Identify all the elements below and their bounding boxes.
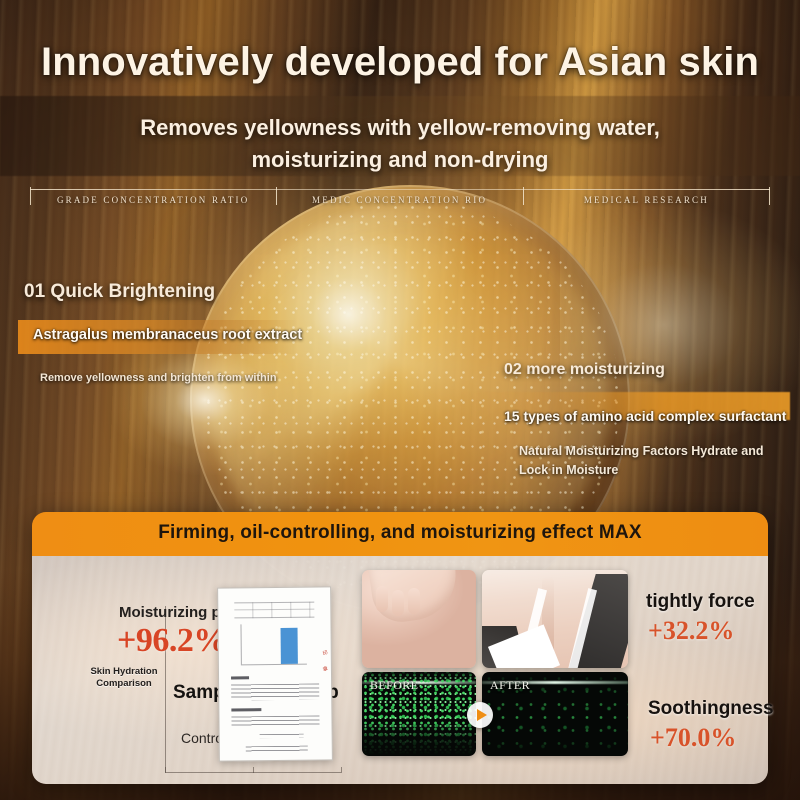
chart-xlabel-100: 100% — [325, 782, 358, 784]
chart-y-axis-label: Skin Hydration Comparison — [87, 666, 161, 690]
report-chart-baseline — [241, 664, 307, 666]
before-label: BEFORE — [370, 678, 418, 693]
report-heading-2 — [231, 708, 261, 711]
chart-tick-50 — [253, 767, 254, 773]
lab-report-thumbnail[interactable]: 印 章 — [217, 586, 333, 761]
stat-soothingness-value: +70.0% — [650, 723, 736, 753]
skin-photo-shoulder[interactable] — [362, 570, 476, 668]
report-footer — [246, 746, 308, 754]
finger-3 — [408, 588, 420, 614]
divider-label-grade: GRADE CONCENTRATION RATIO — [30, 195, 276, 205]
stat-soothingness-title: Soothingness — [648, 698, 774, 720]
feature-01-description: Remove yellowness and brighten from with… — [40, 372, 277, 384]
divider-rule — [30, 189, 770, 190]
feature-01-ingredient: Astragalus membranaceus root extract — [33, 327, 302, 343]
divider-label-research: MEDICAL RESEARCH — [523, 195, 770, 205]
poster-root: Innovatively developed for Asian skin Re… — [0, 0, 800, 800]
report-paragraph-1 — [231, 684, 319, 701]
feature-01-title: 01 Quick Brightening — [24, 281, 215, 303]
chart-tick-0 — [165, 767, 166, 773]
feature-02-ingredient: 15 types of amino acid complex surfactan… — [504, 408, 786, 424]
report-signature — [260, 734, 304, 738]
feature-02-description: Natural Moisturizing Factors Hydrate and… — [519, 442, 787, 480]
report-chart-bar — [281, 628, 298, 664]
finger-1 — [376, 586, 388, 612]
report-paragraph-2 — [231, 716, 319, 728]
report-stamp-2: 章 — [322, 665, 329, 673]
stat-tightly-force-title: tightly force — [646, 591, 755, 613]
after-label: AFTER — [490, 678, 530, 693]
report-chart-axis — [240, 624, 241, 664]
microscopy-before-photo[interactable]: BEFORE — [362, 672, 476, 756]
chart-xlabel-50: 50% — [240, 782, 266, 784]
chart-metric-value: +96.2% — [117, 622, 227, 660]
skin-photo-back[interactable] — [482, 570, 628, 668]
play-icon[interactable] — [467, 702, 493, 728]
microscopy-after-photo[interactable]: AFTER — [482, 672, 628, 756]
chart-tick-100 — [341, 767, 342, 773]
chart-xlabel-0: 0% — [156, 782, 175, 784]
finger-2 — [392, 590, 404, 616]
divider-label-medic: MEDIC CONCENTRATION RIO — [276, 195, 522, 205]
page-title: Innovatively developed for Asian skin — [0, 40, 800, 85]
divider: GRADE CONCENTRATION RATIO MEDIC CONCENTR… — [30, 187, 770, 213]
report-data-table — [234, 602, 314, 619]
report-heading-1 — [231, 676, 249, 679]
page-subtitle: Removes yellowness with yellow-removing … — [90, 112, 710, 176]
feature-02-title: 02 more moisturizing — [504, 361, 665, 379]
report-stamp-1: 印 — [322, 649, 329, 657]
results-panel-title: Firming, oil-controlling, and moisturizi… — [32, 522, 768, 544]
stat-tightly-force-value: +32.2% — [648, 616, 734, 646]
